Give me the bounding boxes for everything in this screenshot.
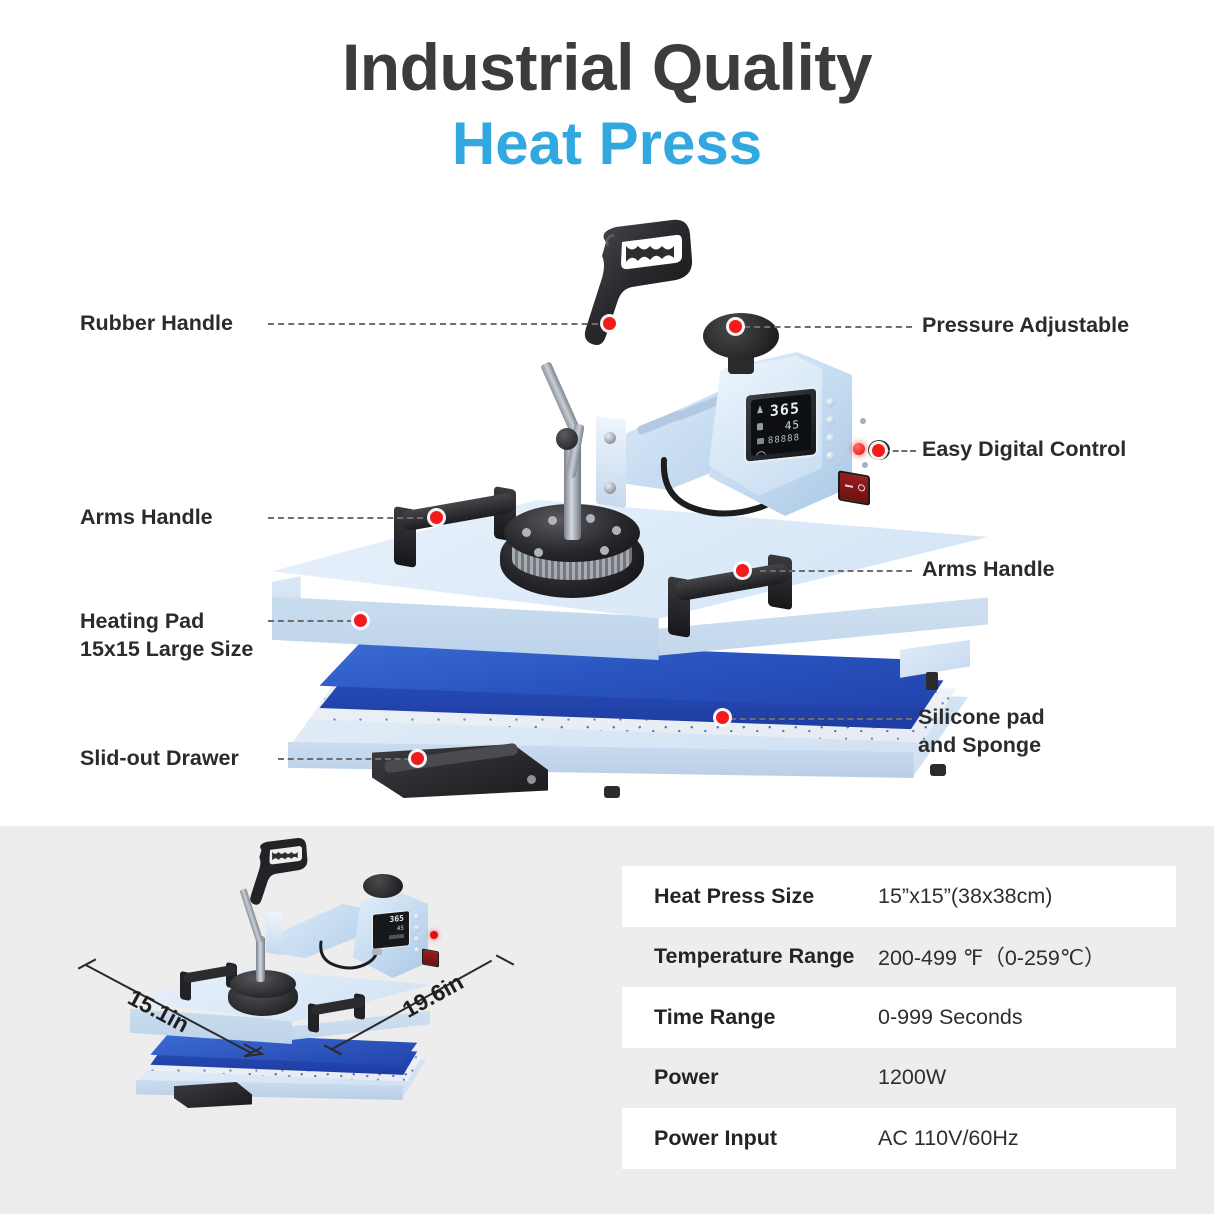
callout-arms-handle-left: Arms Handle [80, 504, 270, 532]
lcd-button-up[interactable] [826, 398, 835, 407]
lcd-temp-icon [757, 405, 763, 414]
callout-silicone-pad-sponge: Silicone pad and Sponge [918, 704, 1178, 759]
hero-section: Industrial Quality Heat Press [0, 0, 1214, 826]
dimension-label-depth: 19.6in [398, 968, 468, 1023]
mini-lcd-temperature: 365 [390, 914, 404, 925]
dot-arms-handle-left [430, 511, 443, 524]
power-indicator-led [853, 443, 865, 455]
dot-silicone-pad [716, 711, 729, 724]
mini-knob [363, 874, 403, 898]
dimension-arrow-width [244, 1042, 268, 1062]
leader-easy-digital-control [884, 450, 916, 452]
callout-arms-handle-right: Arms Handle [922, 556, 1182, 584]
table-row: Heat Press Size 15”x15”(38x38cm) [622, 866, 1176, 927]
rubber-handle-icon [562, 216, 712, 366]
hub-bolt-5 [600, 546, 609, 555]
table-row: Power 1200W [622, 1048, 1176, 1109]
callout-pressure-adjustable: Pressure Adjustable [922, 312, 1182, 340]
spec-value: 0-999 Seconds [878, 1005, 1176, 1030]
hub-bolt-1 [522, 528, 531, 537]
dot-heating-pad [354, 614, 367, 627]
lcd-screen: 365 45 88888 [751, 394, 811, 456]
product-infographic: Industrial Quality Heat Press [0, 0, 1214, 1214]
table-row: Time Range 0-999 Seconds [622, 987, 1176, 1048]
ctrl-screw-bottom [862, 462, 868, 468]
rocker-minus-icon [845, 484, 853, 487]
hub-bolt-4 [612, 526, 621, 535]
mini-lcd-button-2 [414, 925, 420, 931]
lcd-mode-icon [757, 438, 764, 445]
spec-table: Heat Press Size 15”x15”(38x38cm) Tempera… [622, 866, 1176, 1169]
dimension-tick-depth-end [496, 954, 515, 965]
lcd-button-power[interactable] [826, 452, 835, 461]
lcd-button-set[interactable] [826, 434, 835, 443]
dimension-diagram: 365 45 88888 15.1in [60, 826, 540, 1214]
lower-section: 365 45 88888 15.1in [0, 826, 1214, 1214]
heat-press-illustration: 365 45 88888 [0, 0, 1214, 826]
swing-bracket-foot [926, 672, 938, 690]
mini-lcd-segments: 88888 [389, 934, 404, 942]
spec-key: Heat Press Size [622, 884, 878, 909]
hub-bolt-3 [586, 514, 595, 523]
callout-slid-out-drawer: Slid-out Drawer [80, 745, 290, 773]
dot-arms-handle-right [736, 564, 749, 577]
base-foot-left [604, 786, 620, 798]
lcd-temperature: 365 [770, 399, 800, 420]
power-rocker-switch[interactable] [838, 470, 870, 506]
spec-value: 15”x15”(38x38cm) [878, 884, 1176, 909]
mini-lcd-button-3 [414, 936, 420, 942]
spec-key: Temperature Range [622, 944, 878, 969]
spec-key: Power [622, 1065, 878, 1090]
mini-rubber-handle-icon [238, 836, 318, 916]
mini-rubber-handle [238, 836, 318, 916]
lcd-timer-icon [757, 423, 763, 431]
drawer-knob [527, 775, 536, 784]
arms-handle-right [668, 556, 800, 636]
lcd-time: 45 [785, 418, 800, 433]
mini-arms-handle-right [308, 994, 368, 1032]
dot-easy-digital-control [872, 444, 885, 457]
rubber-handle [562, 216, 712, 366]
mini-mount-plate [266, 911, 282, 955]
dot-slid-out-drawer [411, 752, 424, 765]
dot-rubber-handle [603, 317, 616, 330]
spec-key: Time Range [622, 1005, 878, 1030]
leader-arms-handle-left [268, 517, 433, 519]
spec-value: 1200W [878, 1065, 1176, 1090]
leader-rubber-handle [268, 323, 618, 325]
callout-easy-digital-control: Easy Digital Control [922, 436, 1182, 464]
spec-value: AC 110V/60Hz [878, 1126, 1176, 1151]
leader-pressure-adjustable [744, 326, 912, 328]
lcd-button-down[interactable] [826, 416, 835, 425]
pressure-adjust-knob[interactable] [703, 313, 779, 359]
dot-pressure-adjustable [729, 320, 742, 333]
base-foot-right [930, 764, 946, 776]
mount-bolt-bottom [604, 482, 616, 494]
callout-rubber-handle: Rubber Handle [80, 310, 270, 338]
callout-heating-pad: Heating Pad 15x15 Large Size [80, 608, 290, 663]
table-row: Power Input AC 110V/60Hz [622, 1108, 1176, 1169]
mini-power-cord [318, 938, 384, 972]
mini-power-led [430, 931, 438, 939]
mini-rocker-switch [422, 949, 439, 968]
mini-slide-out-drawer [174, 1082, 252, 1108]
ctrl-screw-top [860, 418, 866, 424]
hub-bolt-2 [548, 516, 557, 525]
leader-silicone-pad [730, 718, 912, 720]
leader-arms-handle-right [760, 570, 912, 572]
spec-key: Power Input [622, 1126, 878, 1151]
mount-bolt-top [604, 432, 616, 444]
mini-lcd-button-1 [414, 914, 420, 920]
lcd-power-icon [756, 451, 766, 457]
hub-bolt-6 [534, 548, 543, 557]
table-row: Temperature Range 200-499 ℉（0-259℃） [622, 927, 1176, 988]
lcd-display: 365 45 88888 [744, 386, 818, 464]
linkage-joint [556, 428, 578, 450]
rocker-circle-icon [858, 484, 865, 492]
lcd-segments: 88888 [768, 433, 800, 446]
mini-lcd-time: 45 [397, 925, 404, 933]
spec-value: 200-499 ℉（0-259℃） [878, 941, 1176, 972]
linkage-mount-plate [596, 416, 626, 508]
mini-lcd-button-4 [414, 947, 420, 953]
leader-slid-out-drawer [278, 758, 420, 760]
